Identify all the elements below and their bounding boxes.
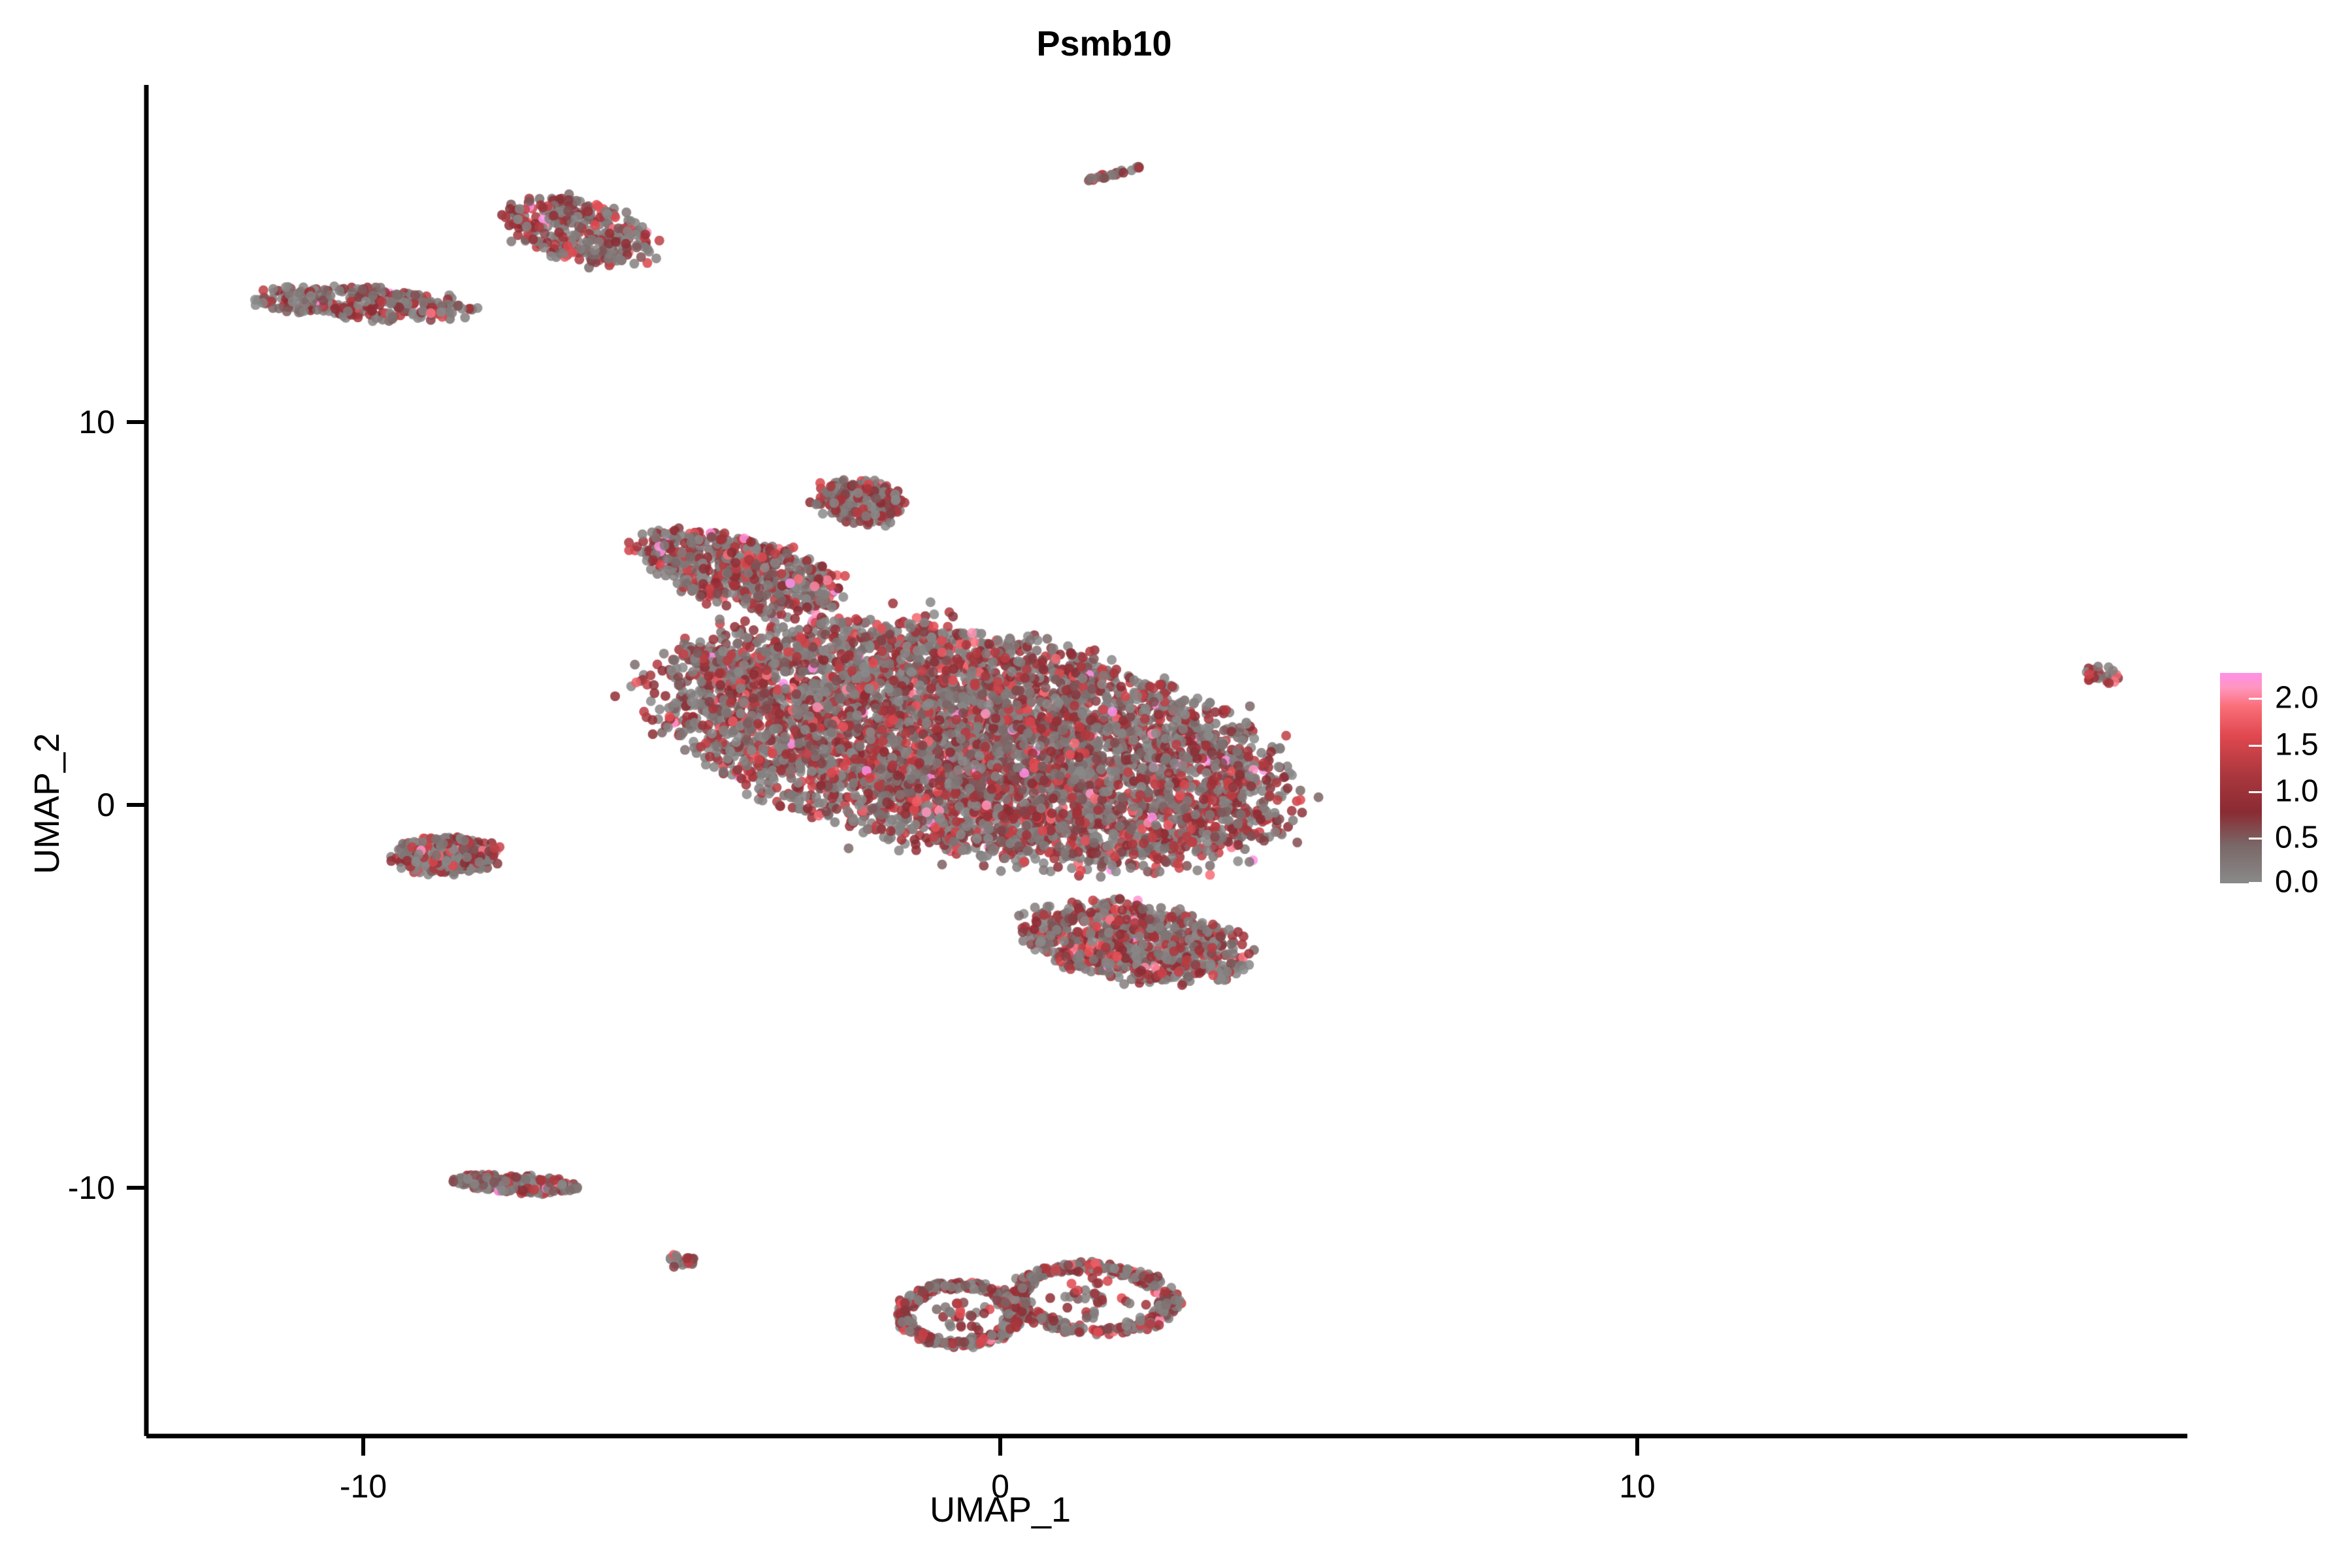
x-tick-label-neg10: -10 [340,1467,387,1505]
legend-tick-2 [2249,698,2262,700]
legend-label-1: 1.0 [2275,774,2319,809]
legend-tick-1 [2249,791,2262,793]
legend-label-0: 0.0 [2275,864,2319,900]
umap-feature-plot: Psmb10 -10 0 10 10 0 -10 UMAP_1 UMAP_2 2… [0,0,2352,1568]
color-legend: 2.0 1.5 1.0 0.5 0.0 [2220,673,2338,895]
y-axis-title: UMAP_2 [27,733,67,874]
y-tick-label-neg10: -10 [39,1169,115,1207]
scatter-plot-canvas [0,0,2352,1568]
legend-colorbar [2220,673,2262,883]
legend-tick-0 [2249,882,2262,884]
legend-tick-0p5 [2249,838,2262,840]
legend-tick-1p5 [2249,745,2262,747]
legend-label-0p5: 0.5 [2275,820,2319,856]
x-tick-label-10: 10 [1619,1467,1656,1505]
legend-label-2: 2.0 [2275,680,2319,716]
x-axis-title: UMAP_1 [930,1490,1071,1530]
y-tick-label-10: 10 [39,403,115,441]
legend-label-1p5: 1.5 [2275,727,2319,763]
